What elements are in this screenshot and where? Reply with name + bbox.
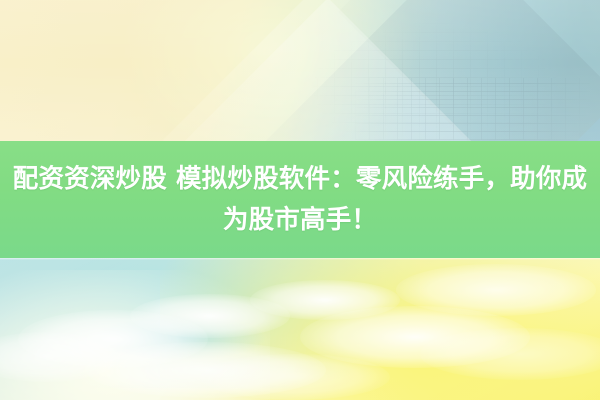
sky-top-hairline <box>0 258 600 260</box>
article-cover-banner: 配资资深炒股 模拟炒股软件：零风险练手，助你成为股市高手！ <box>0 0 600 400</box>
cloud-break-patch <box>95 316 265 360</box>
top-graphic-band <box>0 0 600 141</box>
top-vertical-wash <box>0 0 600 141</box>
sky-photo-band <box>0 258 600 400</box>
banner-headline: 配资资深炒股 模拟炒股软件：零风险练手，助你成为股市高手！ <box>4 159 596 241</box>
headline-band: 配资资深炒股 模拟炒股软件：零风险练手，助你成为股市高手！ <box>0 141 600 258</box>
